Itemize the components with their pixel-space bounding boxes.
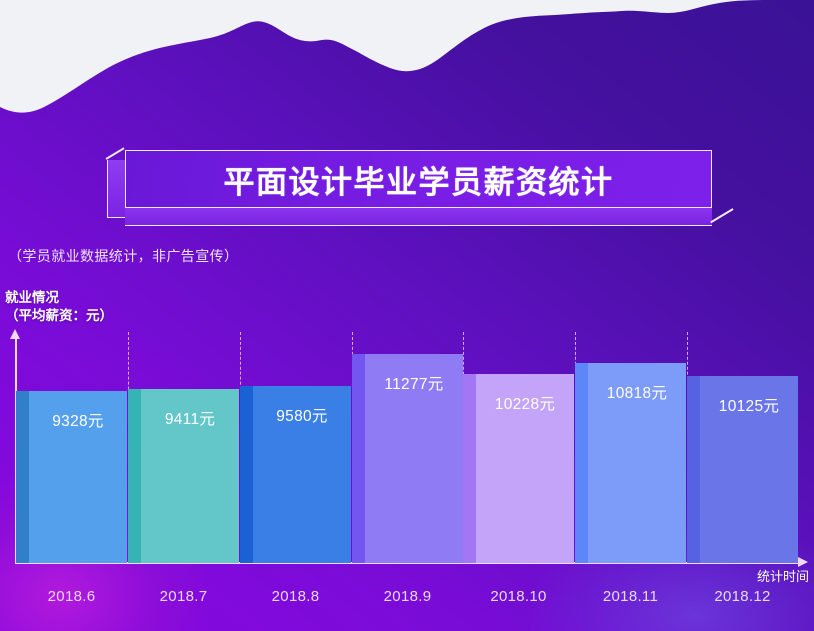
bar-bevel	[463, 374, 476, 563]
infographic-canvas: 平面设计毕业学员薪资统计 （学员就业数据统计，非广告宣传） 就业情况 （平均薪资…	[0, 0, 814, 631]
bar-bevel	[575, 363, 588, 563]
bar-value-label: 11277元	[365, 372, 463, 394]
bar-value-label: 9411元	[141, 407, 239, 429]
x-tick-2018.12: 2018.12	[687, 588, 798, 605]
page-title: 平面设计毕业学员薪资统计	[125, 150, 712, 208]
banner-bottom-bevel	[125, 208, 712, 226]
x-tick-2018.11: 2018.11	[575, 588, 686, 605]
bar-2018.7[interactable]: 9411元	[128, 330, 239, 563]
bar-value-label: 9580元	[253, 404, 351, 426]
plot-area: 9328元9411元9580元11277元10228元10818元10125元	[16, 330, 799, 563]
y-axis-caption: 就业情况 （平均薪资：元）	[5, 289, 113, 325]
title-banner: 平面设计毕业学员薪资统计	[107, 150, 712, 226]
bar-bevel	[352, 354, 365, 563]
bar-chart: 9328元9411元9580元11277元10228元10818元10125元	[0, 330, 814, 570]
banner-left-bevel	[107, 160, 125, 218]
bar-2018.6[interactable]: 9328元	[16, 330, 127, 563]
bar-bevel	[16, 391, 29, 563]
bar-2018.11[interactable]: 10818元	[575, 330, 686, 563]
x-tick-2018.7: 2018.7	[128, 588, 239, 605]
x-tick-2018.10: 2018.10	[463, 588, 574, 605]
bar-2018.8[interactable]: 9580元	[240, 330, 351, 563]
bar-2018.9[interactable]: 11277元	[352, 330, 463, 563]
x-tick-2018.8: 2018.8	[240, 588, 351, 605]
x-tick-2018.9: 2018.9	[352, 588, 463, 605]
bar-value-label: 10818元	[588, 381, 686, 403]
bar-value-label: 9328元	[29, 409, 127, 431]
x-tick-2018.6: 2018.6	[16, 588, 127, 605]
x-axis-caption: 统计时间	[757, 566, 809, 585]
bar-bevel	[240, 386, 253, 563]
bar-value-label: 10125元	[700, 394, 798, 416]
bar-bevel	[687, 376, 700, 563]
y-axis-caption-line1: 就业情况	[5, 289, 113, 307]
bar-value-label: 10228元	[476, 392, 574, 414]
bar-2018.10[interactable]: 10228元	[463, 330, 574, 563]
bar-bevel	[128, 389, 141, 563]
bar-2018.12[interactable]: 10125元	[687, 330, 798, 563]
page-subtitle: （学员就业数据统计，非广告宣传）	[8, 246, 238, 266]
y-axis-caption-line2: （平均薪资：元）	[5, 307, 113, 325]
x-axis-tick-labels: 2018.62018.72018.82018.92018.102018.1120…	[0, 588, 814, 618]
